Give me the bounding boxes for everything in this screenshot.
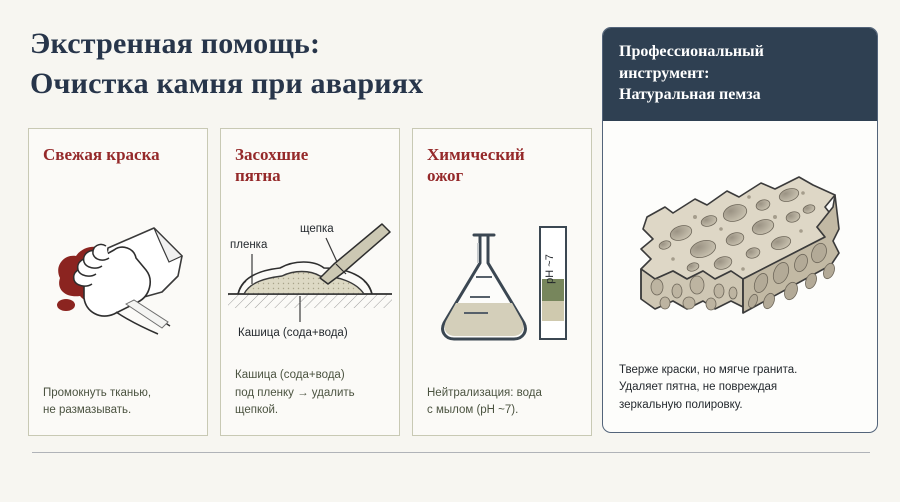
caption-line-1: Кашица (сода+вода) bbox=[235, 367, 385, 384]
hand-blotting-paint-icon bbox=[30, 200, 206, 350]
card-chemical-burn-title-line-1: Химический bbox=[427, 144, 577, 165]
label-scraper: щепка bbox=[300, 223, 334, 235]
pumice-illustration bbox=[603, 121, 877, 362]
caption-line-2: под пленку → удалить bbox=[235, 385, 385, 402]
card-fresh-paint: Свежая краска bbox=[28, 128, 208, 436]
caption-line-1: Промокнуть тканью, bbox=[43, 385, 193, 402]
card-chemical-burn-title-line-2: ожог bbox=[427, 165, 577, 186]
caption-line-2: не размазывать. bbox=[43, 402, 193, 419]
caption-line-2: Удаляет пятна, не повреждая bbox=[619, 379, 861, 396]
caption-line-1: Нейтрализация: вода bbox=[427, 385, 577, 402]
card-dried-stains: Засохшие пятна пленка bbox=[220, 128, 400, 436]
card-dried-stains-title-line-1: Засохшие bbox=[235, 144, 385, 165]
page-title-line-1: Экстренная помощь: bbox=[30, 24, 590, 64]
card-fresh-paint-illustration bbox=[29, 165, 207, 384]
card-chemical-burn: Химический ожог pH ~7 bbox=[412, 128, 592, 436]
caption-line-2: с мылом (pH ~7). bbox=[427, 402, 577, 419]
caption-line-3: щепкой. bbox=[235, 402, 385, 419]
pumice-panel: Профессиональный инструмент: Натуральная… bbox=[602, 27, 878, 433]
page-title-line-2: Очистка камня при авариях bbox=[30, 64, 590, 104]
card-chemical-burn-title: Химический ожог bbox=[427, 144, 577, 187]
card-dried-stains-title: Засохшие пятна bbox=[235, 144, 385, 187]
flask-ph-strip-icon: pH ~7 bbox=[414, 211, 590, 361]
ph-strip-label: pH ~7 bbox=[544, 254, 556, 284]
pumice-panel-header: Профессиональный инструмент: Натуральная… bbox=[603, 28, 877, 121]
footer-divider bbox=[32, 452, 870, 453]
card-dried-stains-illustration: пленка щепка Кашица (сода+вода) bbox=[221, 187, 399, 368]
card-dried-stains-caption: Кашица (сода+вода) под пленку → удалить … bbox=[235, 367, 385, 419]
label-film: пленка bbox=[230, 239, 268, 251]
card-chemical-burn-illustration: pH ~7 bbox=[413, 187, 591, 385]
pumice-block-icon bbox=[603, 121, 878, 331]
card-fresh-paint-caption: Промокнуть тканью, не размазывать. bbox=[43, 385, 193, 420]
card-row: Свежая краска bbox=[28, 128, 592, 436]
caption-line-3: зеркальную полировку. bbox=[619, 397, 861, 414]
pumice-panel-caption: Тверже краски, но мягче гранита. Удаляет… bbox=[619, 362, 861, 414]
page-title: Экстренная помощь: Очистка камня при ава… bbox=[30, 24, 590, 104]
card-dried-stains-title-line-2: пятна bbox=[235, 165, 385, 186]
pumice-header-line-1: Профессиональный bbox=[619, 41, 861, 63]
pumice-header-line-2: инструмент: bbox=[619, 63, 861, 85]
paste-film-scraper-diagram-icon: пленка щепка Кашица (сода+вода) bbox=[222, 202, 398, 352]
label-paste: Кашица (сода+вода) bbox=[238, 327, 348, 339]
card-chemical-burn-caption: Нейтрализация: вода с мылом (pH ~7). bbox=[427, 385, 577, 420]
infographic-page: Экстренная помощь: Очистка камня при ава… bbox=[0, 0, 900, 502]
caption-line-1: Тверже краски, но мягче гранита. bbox=[619, 362, 861, 379]
pumice-header-line-3: Натуральная пемза bbox=[619, 84, 861, 106]
card-fresh-paint-title: Свежая краска bbox=[43, 144, 193, 165]
